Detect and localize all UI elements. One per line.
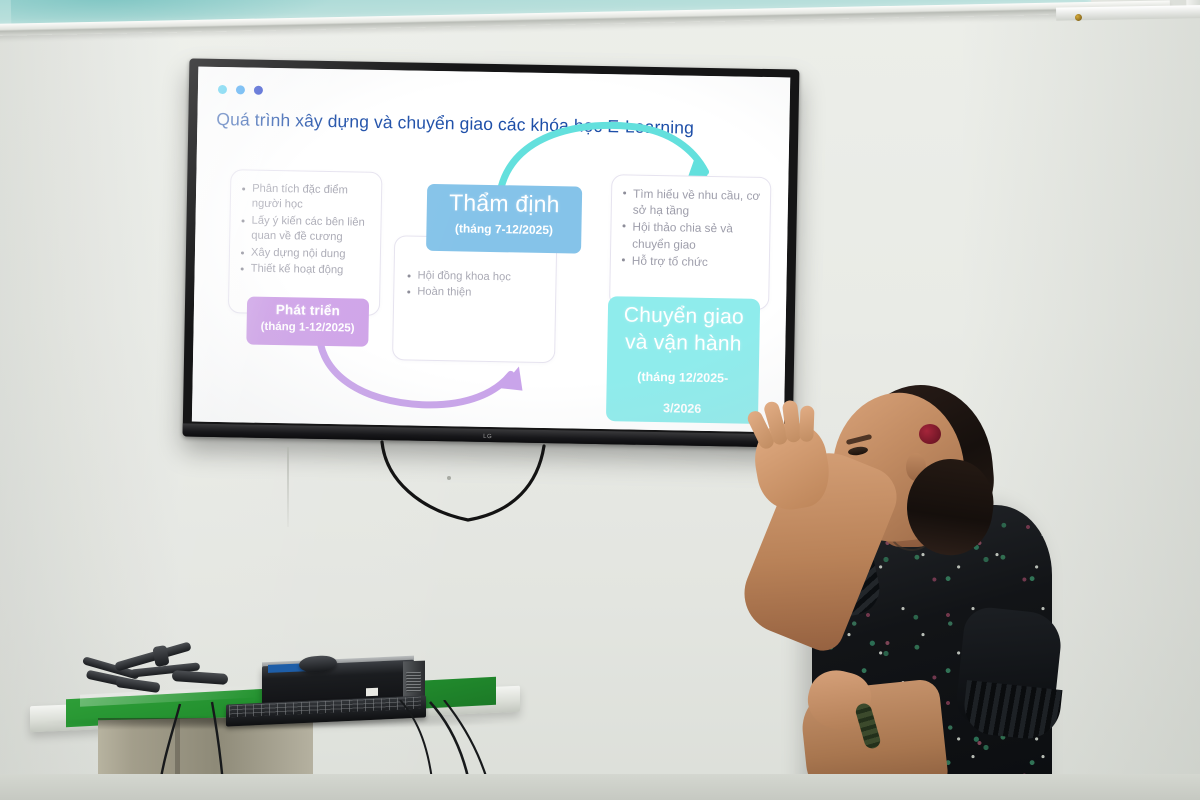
decor-dot-3 (254, 86, 263, 95)
list-item: Lấy ý kiến các bên liên quan về đề cương (240, 213, 372, 246)
pc-vent-grille (406, 672, 421, 693)
screenshot-scene: LG Quá trình xây dựng và chuyển giao các… (0, 0, 1200, 800)
list-item: Tìm hiểu về nhu cầu, cơ sở hạ tầng (622, 185, 762, 220)
card-appraisal-bullets: Hội đồng khoa học Hoàn thiện (392, 235, 557, 363)
pill-subtitle: (tháng 1-12/2025) (246, 319, 368, 338)
card-develop-bullets: Phân tích đặc điểm người học Lấy ý kiến … (228, 169, 383, 316)
presentation-slide: Quá trình xây dựng và chuyển giao các kh… (192, 67, 790, 433)
list-item: Hoàn thiện (406, 285, 546, 303)
pc-sticker (366, 688, 378, 697)
list-item: Hội thảo chia sẻ và chuyển giao (621, 219, 761, 254)
list-item: Hỗ trợ tổ chức (621, 252, 760, 271)
stage-pill-tham-dinh: Thẩm định (tháng 7-12/2025) (426, 184, 582, 254)
wall-mounted-tv: LG Quá trình xây dựng và chuyển giao các… (183, 58, 800, 447)
presenter (742, 385, 1072, 800)
pill-title: Phát triển (247, 301, 369, 321)
tv-power-cable (300, 440, 630, 530)
decor-dot-2 (236, 85, 245, 94)
finger (799, 406, 814, 442)
tv-screen: Quá trình xây dựng và chuyển giao các kh… (192, 67, 790, 433)
bullet-list-right: Tìm hiểu về nhu cầu, cơ sở hạ tầng Hội t… (611, 175, 771, 271)
pill-subtitle-line2: 3/2026 (606, 398, 758, 420)
bullet-list-left: Phân tích đặc điểm người học Lấy ý kiến … (230, 170, 382, 279)
hair-scrunchie (919, 424, 941, 444)
stage-pill-chuyen-giao: Chuyển giao và vận hành (tháng 12/2025- … (606, 296, 760, 424)
pill-title-line2: và vận hành (607, 328, 759, 358)
list-item: Xây dựng nội dung (240, 245, 371, 263)
pill-title: Thẩm định (427, 187, 583, 221)
tripod-foot (116, 677, 161, 693)
list-item: Hội đồng khoa học (406, 268, 546, 286)
floor (0, 774, 1200, 800)
pill-subtitle: (tháng 7-12/2025) (426, 218, 581, 241)
list-item: Phân tích đặc điểm người học (241, 181, 373, 214)
card-transfer-bullets: Tìm hiểu về nhu cầu, cơ sở hạ tầng Hội t… (609, 174, 771, 310)
stage-pill-phat-trien: Phát triển (tháng 1-12/2025) (246, 297, 369, 347)
decor-dot-1 (218, 85, 227, 94)
rail-screw-icon (1075, 14, 1082, 21)
wall-seam (287, 447, 289, 527)
pill-title-line1: Chuyển giao (608, 301, 760, 331)
slide-decoration-dots (218, 85, 263, 95)
tripod-on-desk (80, 650, 230, 698)
list-item: Thiết kế hoạt động (240, 261, 371, 279)
pill-subtitle-line1: (tháng 12/2025- (607, 367, 759, 389)
tripod-handle (172, 670, 229, 685)
slide-title: Quá trình xây dựng và chuyển giao các kh… (216, 109, 769, 140)
